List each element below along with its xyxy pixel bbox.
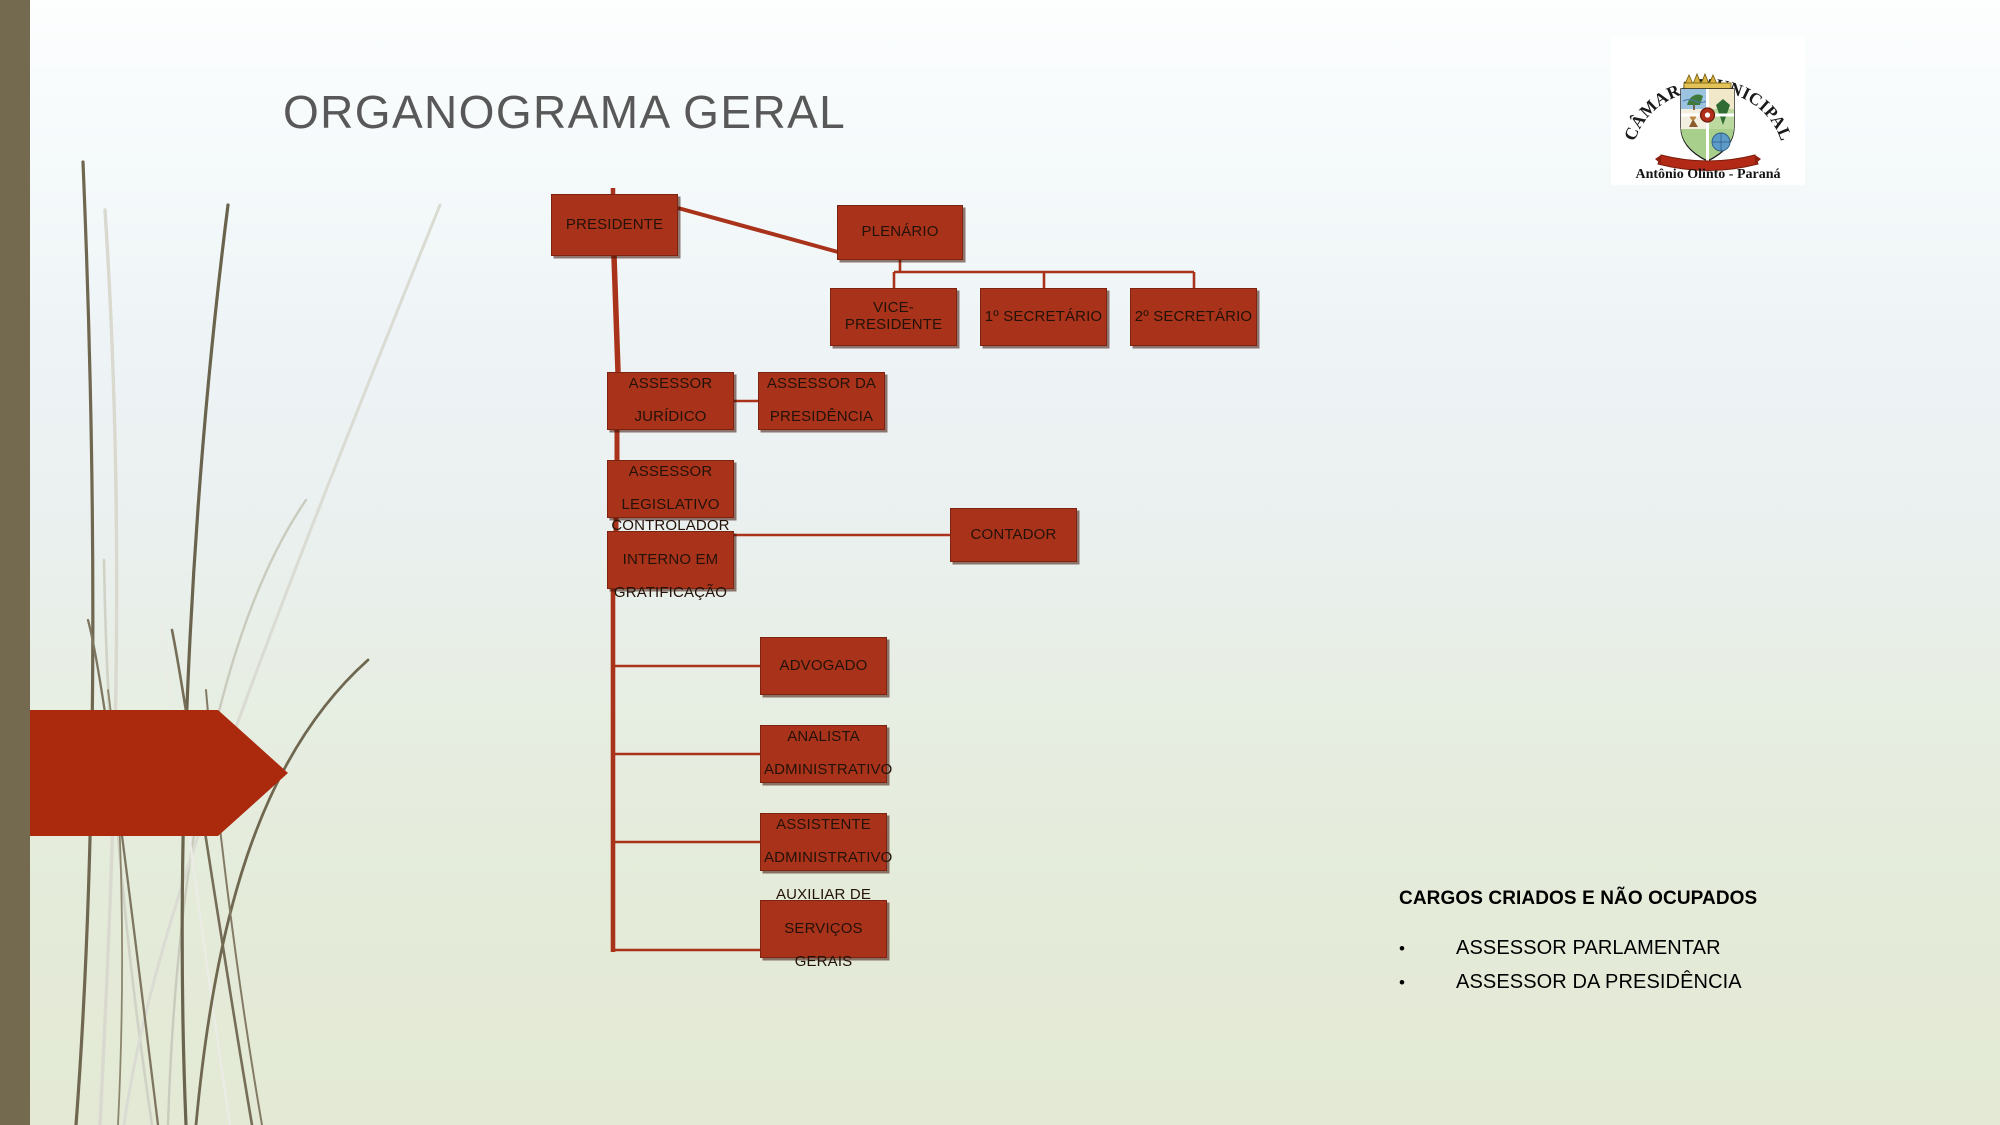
- node-assessor-juridico[interactable]: ASSESSORJURÍDICO: [607, 372, 734, 430]
- node-advogado[interactable]: ADVOGADO: [760, 637, 887, 695]
- node-primeiro-secretario[interactable]: 1º SECRETÁRIO: [980, 288, 1107, 346]
- logo: CÂMARA MUNICIPAL: [1611, 37, 1805, 185]
- node-label: 2º SECRETÁRIO: [1134, 309, 1253, 326]
- node-label: PRESIDENTE: [555, 217, 674, 234]
- node-analista-administrativo[interactable]: ANALISTAADMINISTRATIVO: [760, 725, 887, 783]
- node-label: 1º SECRETÁRIO: [984, 309, 1103, 326]
- node-label: VICE-PRESIDENTE: [834, 300, 953, 334]
- logo-bottom-text: Antônio Olinto - Paraná: [1635, 167, 1780, 182]
- node-label: ASSESSORJURÍDICO: [611, 376, 730, 426]
- node-label: PLENÁRIO: [841, 224, 959, 241]
- node-line: ANALISTA: [764, 729, 883, 746]
- node-contador[interactable]: CONTADOR: [950, 508, 1077, 562]
- node-line: CONTROLADOR: [611, 518, 730, 535]
- node-line: ADMINISTRATIVO: [764, 762, 883, 779]
- node-line: LEGISLATIVO: [611, 497, 730, 514]
- vacant-positions-block: CARGOS CRIADOS E NÃO OCUPADOS • ASSESSOR…: [1399, 888, 1899, 1005]
- node-label: CONTROLADORINTERNO EMGRATIFICAÇÃO: [611, 518, 730, 602]
- notes-heading: CARGOS CRIADOS E NÃO OCUPADOS: [1399, 888, 1899, 910]
- node-label: ASSESSORLEGISLATIVO: [611, 464, 730, 514]
- node-label: CONTADOR: [954, 527, 1073, 544]
- list-item: • ASSESSOR DA PRESIDÊNCIA: [1399, 971, 1899, 994]
- node-line: GERAIS: [764, 954, 883, 971]
- node-vice-presidente[interactable]: VICE-PRESIDENTE: [830, 288, 957, 346]
- node-line: GRATIFICAÇÃO: [611, 585, 730, 602]
- page-title: ORGANOGRAMA GERAL: [283, 85, 846, 139]
- node-label: ASSISTENTEADMINISTRATIVO: [764, 817, 883, 867]
- node-controlador-interno[interactable]: CONTROLADORINTERNO EMGRATIFICAÇÃO: [607, 531, 734, 589]
- node-line: PRESIDÊNCIA: [762, 409, 881, 426]
- node-line: INTERNO EM: [611, 552, 730, 569]
- node-assistente-administrativo[interactable]: ASSISTENTEADMINISTRATIVO: [760, 813, 887, 871]
- node-assessor-presidencia[interactable]: ASSESSOR DAPRESIDÊNCIA: [758, 372, 885, 430]
- node-line: JURÍDICO: [611, 409, 730, 426]
- node-plenario[interactable]: PLENÁRIO: [837, 205, 963, 260]
- node-line: ASSESSOR: [611, 376, 730, 393]
- node-label: ADVOGADO: [764, 658, 883, 675]
- coat-of-arms-icon: CÂMARA MUNICIPAL: [1611, 37, 1805, 185]
- bullet-icon: •: [1399, 974, 1456, 991]
- node-assessor-legislativo[interactable]: ASSESSORLEGISLATIVO: [607, 460, 734, 518]
- node-line: ASSISTENTE: [764, 817, 883, 834]
- node-label: AUXILIAR DESERVIÇOSGERAIS: [764, 887, 883, 971]
- node-label: ASSESSOR DAPRESIDÊNCIA: [762, 376, 881, 426]
- slide-canvas: ORGANOGRAMA GERAL CÂMARA MUNICIPAL: [0, 0, 2000, 1125]
- node-line: ADMINISTRATIVO: [764, 850, 883, 867]
- node-label: ANALISTAADMINISTRATIVO: [764, 729, 883, 779]
- node-auxiliar-servicos-gerais[interactable]: AUXILIAR DESERVIÇOSGERAIS: [760, 900, 887, 958]
- node-line: AUXILIAR DE: [764, 887, 883, 904]
- node-line: ASSESSOR DA: [762, 376, 881, 393]
- list-item-label: ASSESSOR PARLAMENTAR: [1456, 937, 1721, 960]
- node-segundo-secretario[interactable]: 2º SECRETÁRIO: [1130, 288, 1257, 346]
- node-presidente[interactable]: PRESIDENTE: [551, 194, 678, 256]
- list-item-label: ASSESSOR DA PRESIDÊNCIA: [1456, 971, 1742, 994]
- bullet-icon: •: [1399, 940, 1456, 957]
- node-line: SERVIÇOS: [764, 921, 883, 938]
- list-item: • ASSESSOR PARLAMENTAR: [1399, 937, 1899, 960]
- node-line: ASSESSOR: [611, 464, 730, 481]
